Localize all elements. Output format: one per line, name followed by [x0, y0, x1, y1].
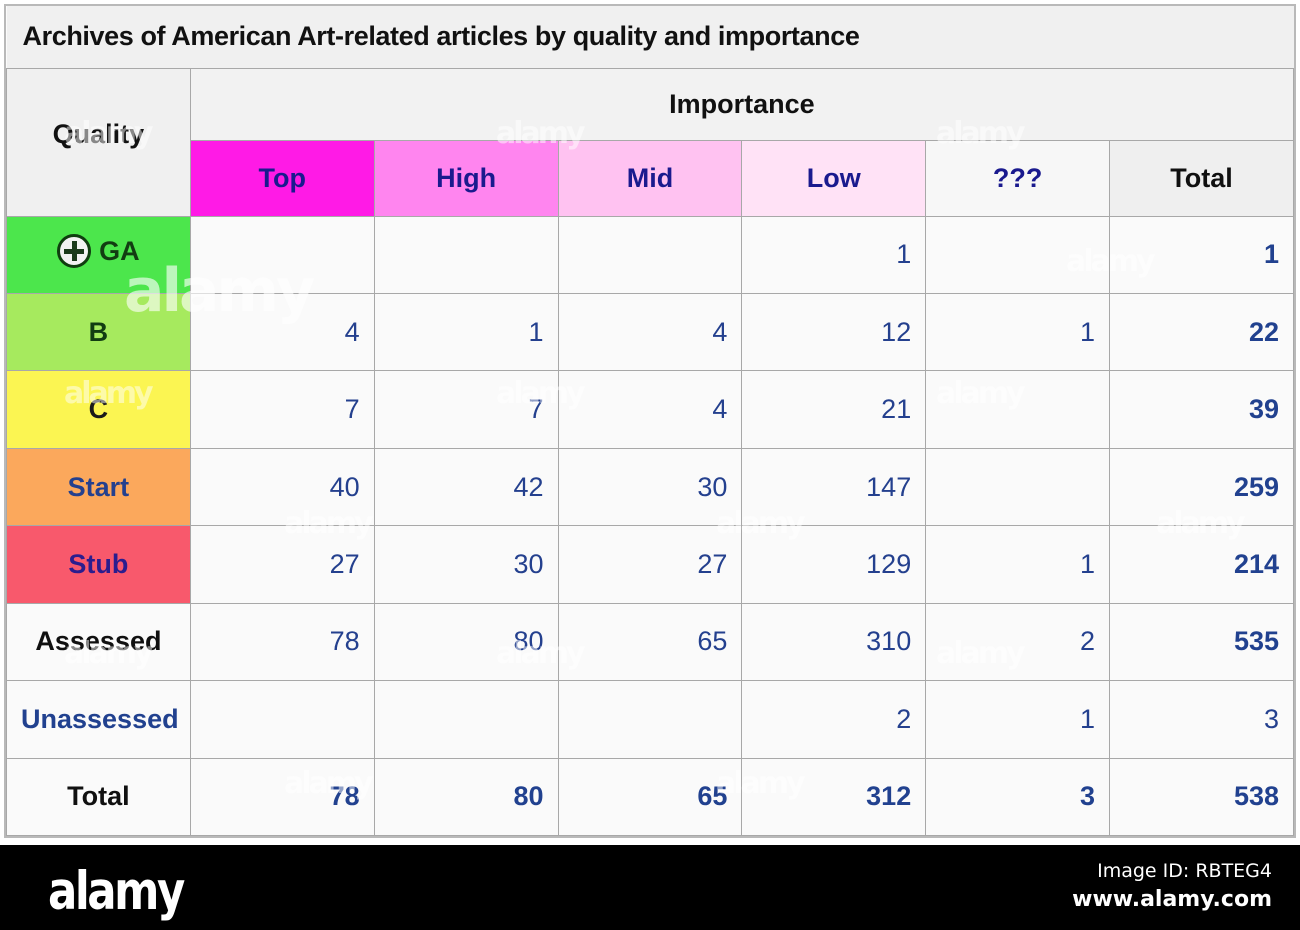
- cell-ga-low[interactable]: 1: [742, 216, 926, 293]
- quality-label-b[interactable]: B: [7, 293, 191, 370]
- cell-stub-top[interactable]: 27: [190, 526, 374, 603]
- cell-ga-unknown: [926, 216, 1110, 293]
- alamy-footer-bar: alamy Image ID: RBTEG4 www.alamy.com: [0, 845, 1300, 930]
- cell-b-high[interactable]: 1: [374, 293, 558, 370]
- cell-assessed-low: 310: [742, 603, 926, 680]
- table-row: Start 40 42 30 147 259: [7, 448, 1294, 525]
- header-importance-mid[interactable]: Mid: [558, 140, 742, 216]
- cell-ga-total[interactable]: 1: [1110, 216, 1294, 293]
- cell-start-total[interactable]: 259: [1110, 448, 1294, 525]
- image-id-label: Image ID: RBTEG4: [1072, 857, 1272, 885]
- cell-total-mid: 65: [558, 758, 742, 835]
- cell-start-top[interactable]: 40: [190, 448, 374, 525]
- quality-label-text: GA: [99, 236, 140, 267]
- quality-label-stub[interactable]: Stub: [7, 526, 191, 603]
- cell-b-mid[interactable]: 4: [558, 293, 742, 370]
- cell-stub-total[interactable]: 214: [1110, 526, 1294, 603]
- quality-label-ga[interactable]: GA: [7, 216, 191, 293]
- importance-column-row: Top High Mid Low ??? Total: [7, 140, 1294, 216]
- importance-group-row: Quality Importance: [7, 68, 1294, 140]
- table-row: C 7 7 4 21 39: [7, 371, 1294, 448]
- table-body: GA 1 1 B 4 1 4 12 1 22: [7, 216, 1294, 836]
- cell-b-total[interactable]: 22: [1110, 293, 1294, 370]
- cell-c-unknown: [926, 371, 1110, 448]
- cell-assessed-top: 78: [190, 603, 374, 680]
- table-row: B 4 1 4 12 1 22: [7, 293, 1294, 370]
- quality-label-start[interactable]: Start: [7, 448, 191, 525]
- alamy-url-label: www.alamy.com: [1072, 885, 1272, 915]
- cell-assessed-total: 535: [1110, 603, 1294, 680]
- cell-b-top[interactable]: 4: [190, 293, 374, 370]
- cell-c-top[interactable]: 7: [190, 371, 374, 448]
- cell-c-total[interactable]: 39: [1110, 371, 1294, 448]
- circled-plus-icon: [57, 234, 91, 268]
- quality-column-header: Quality: [7, 68, 191, 216]
- table-row: Assessed 78 80 65 310 2 535: [7, 603, 1294, 680]
- cell-b-unknown[interactable]: 1: [926, 293, 1110, 370]
- cell-ga-top: [190, 216, 374, 293]
- screenshot-root: Archives of American Art-related article…: [0, 0, 1300, 930]
- header-importance-high[interactable]: High: [374, 140, 558, 216]
- cell-total-top: 78: [190, 758, 374, 835]
- header-importance-total: Total: [1110, 140, 1294, 216]
- table-row: Stub 27 30 27 129 1 214: [7, 526, 1294, 603]
- table-row: Unassessed 2 1 3: [7, 681, 1294, 758]
- cell-total-grand: 538: [1110, 758, 1294, 835]
- header-importance-unknown[interactable]: ???: [926, 140, 1110, 216]
- alamy-meta: Image ID: RBTEG4 www.alamy.com: [1072, 857, 1272, 915]
- page-title: Archives of American Art-related article…: [7, 6, 1294, 68]
- cell-total-low: 312: [742, 758, 926, 835]
- cell-stub-low[interactable]: 129: [742, 526, 926, 603]
- assessment-table: Archives of American Art-related article…: [6, 6, 1294, 836]
- table-row: Total 78 80 65 312 3 538: [7, 758, 1294, 835]
- cell-unassessed-high: [374, 681, 558, 758]
- alamy-logo: alamy: [48, 861, 183, 922]
- cell-start-high[interactable]: 42: [374, 448, 558, 525]
- cell-assessed-high: 80: [374, 603, 558, 680]
- importance-group-header: Importance: [190, 68, 1293, 140]
- cell-unassessed-top: [190, 681, 374, 758]
- cell-c-high[interactable]: 7: [374, 371, 558, 448]
- ga-label-wrap: GA: [57, 234, 140, 268]
- cell-stub-high[interactable]: 30: [374, 526, 558, 603]
- cell-assessed-mid: 65: [558, 603, 742, 680]
- assessment-table-container: Archives of American Art-related article…: [4, 4, 1296, 838]
- header-importance-low[interactable]: Low: [742, 140, 926, 216]
- cell-ga-high: [374, 216, 558, 293]
- quality-label-total: Total: [7, 758, 191, 835]
- cell-assessed-unknown: 2: [926, 603, 1110, 680]
- cell-total-unknown: 3: [926, 758, 1110, 835]
- cell-b-low[interactable]: 12: [742, 293, 926, 370]
- cell-start-low[interactable]: 147: [742, 448, 926, 525]
- cell-stub-mid[interactable]: 27: [558, 526, 742, 603]
- title-row: Archives of American Art-related article…: [7, 6, 1294, 68]
- header-importance-top[interactable]: Top: [190, 140, 374, 216]
- cell-c-low[interactable]: 21: [742, 371, 926, 448]
- quality-label-c[interactable]: C: [7, 371, 191, 448]
- table-head: Archives of American Art-related article…: [7, 6, 1294, 216]
- cell-unassessed-unknown[interactable]: 1: [926, 681, 1110, 758]
- cell-stub-unknown[interactable]: 1: [926, 526, 1110, 603]
- cell-unassessed-total[interactable]: 3: [1110, 681, 1294, 758]
- cell-unassessed-low[interactable]: 2: [742, 681, 926, 758]
- cell-ga-mid: [558, 216, 742, 293]
- quality-label-unassessed[interactable]: Unassessed: [7, 681, 191, 758]
- cell-unassessed-mid: [558, 681, 742, 758]
- cell-start-mid[interactable]: 30: [558, 448, 742, 525]
- cell-start-unknown: [926, 448, 1110, 525]
- cell-c-mid[interactable]: 4: [558, 371, 742, 448]
- table-row: GA 1 1: [7, 216, 1294, 293]
- quality-label-assessed: Assessed: [7, 603, 191, 680]
- cell-total-high: 80: [374, 758, 558, 835]
